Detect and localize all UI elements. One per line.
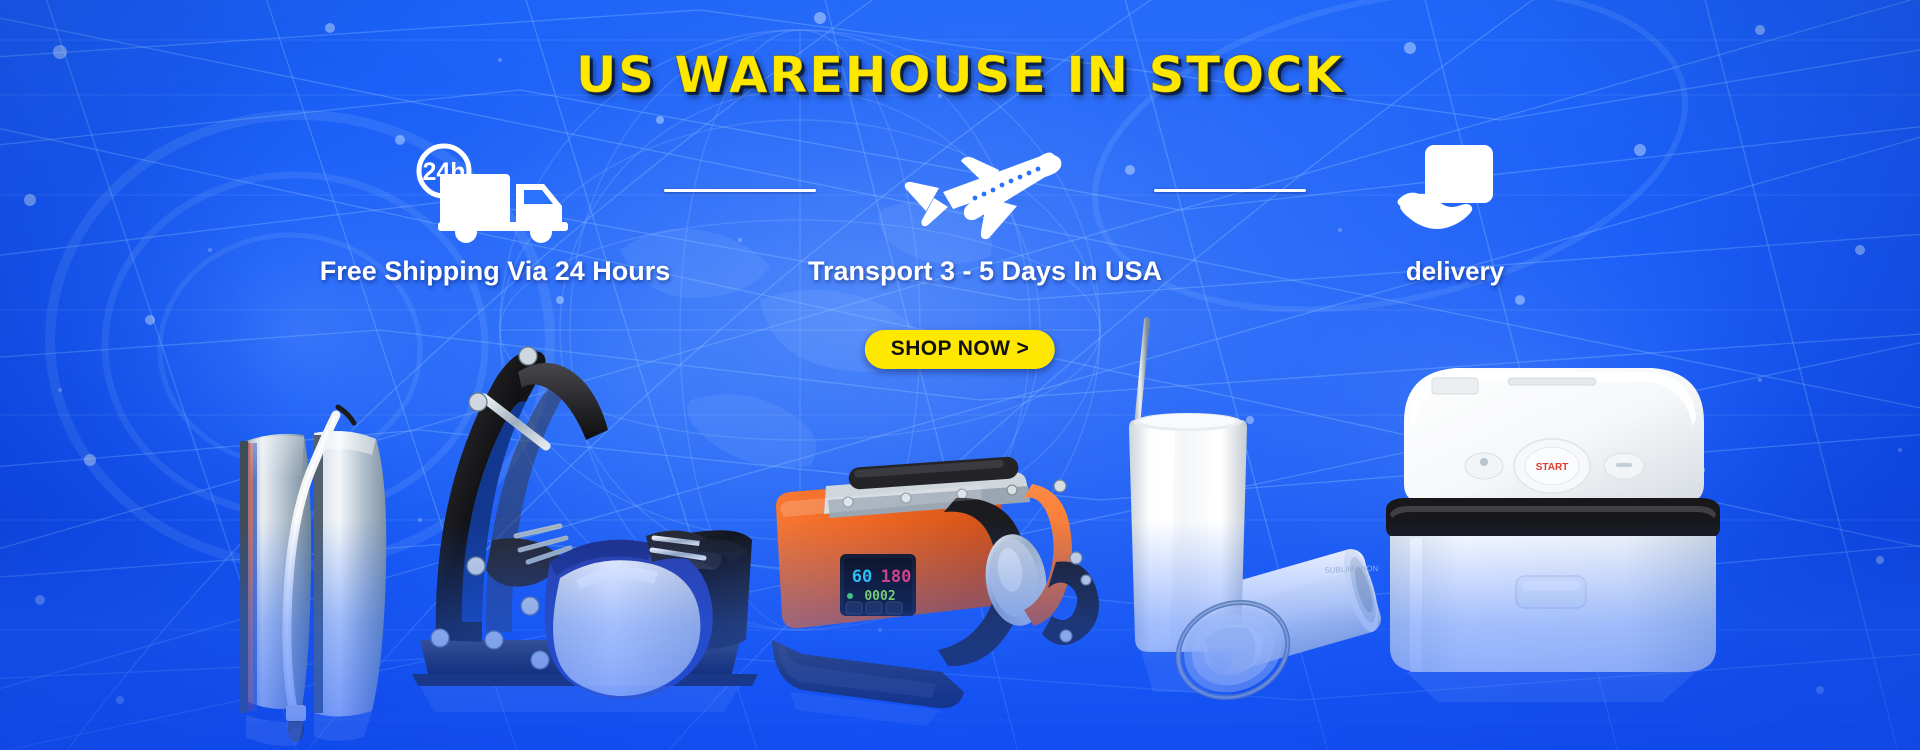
promo-banner: US WAREHOUSE IN STOCK	[0, 0, 1920, 750]
airplane-icon	[903, 134, 1068, 246]
cooker-keep-warm-button[interactable]	[1465, 453, 1503, 479]
press-display-time: 60	[852, 567, 872, 587]
connector-line-1	[660, 134, 820, 246]
cooker-menu-button[interactable]	[1604, 453, 1644, 479]
delivery-truck-24h-icon: 24h	[408, 134, 583, 246]
hand-package-icon	[1395, 134, 1515, 246]
feature-row: 24h Free Shipping Via 24 Hours	[330, 134, 1600, 314]
feature-caption: delivery	[1406, 256, 1504, 287]
page-title: US WAREHOUSE IN STOCK	[0, 46, 1920, 104]
background-network-lines	[0, 0, 1920, 750]
feature-delivery: delivery	[1310, 134, 1600, 287]
product-white-tumblers: SUBLIMATION	[1125, 350, 1375, 710]
press-display-temperature: 180	[881, 567, 912, 587]
cooker-dial[interactable]	[1514, 439, 1590, 493]
feature-caption: Free Shipping Via 24 Hours	[320, 256, 671, 287]
floor-glow	[0, 520, 1920, 750]
product-black-mug-heat-press	[400, 340, 770, 705]
badge-24h-label: 24h	[422, 158, 465, 186]
product-heating-plates	[210, 405, 410, 745]
tumbler-print: SUBLIMATION	[1324, 564, 1378, 575]
feature-caption: Transport 3 - 5 Days In USA	[808, 256, 1162, 287]
product-showcase: 60 180 0002	[0, 0, 1920, 750]
product-rice-cooker: START	[1380, 360, 1725, 675]
background-swirl	[0, 0, 1920, 750]
connector-line-2	[1150, 134, 1310, 246]
shop-now-button[interactable]: SHOP NOW >	[865, 330, 1055, 369]
cooker-start-label: START	[1536, 462, 1569, 473]
cooker-latch[interactable]	[1516, 576, 1586, 608]
feature-free-shipping: 24h Free Shipping Via 24 Hours	[330, 134, 660, 287]
background-globe	[0, 0, 1920, 750]
background-network-nodes	[0, 0, 1920, 750]
press-display-counter: 0002	[864, 589, 895, 604]
background-vignette	[0, 0, 1920, 750]
feature-transport-time: Transport 3 - 5 Days In USA	[820, 134, 1150, 287]
product-orange-mug-heat-press: 60 180 0002	[770, 470, 1120, 715]
press-display-panel	[840, 554, 916, 616]
